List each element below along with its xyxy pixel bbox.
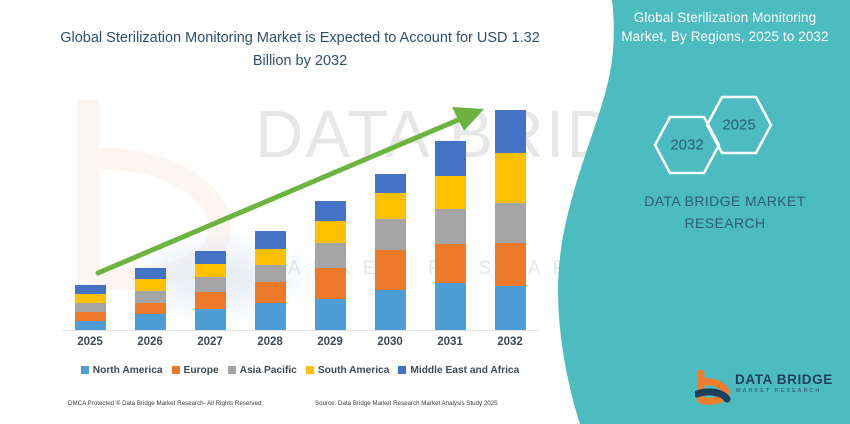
bar-2029[interactable] — [315, 201, 346, 331]
bar-segment — [195, 264, 226, 277]
bar-segment — [255, 265, 286, 282]
infographic-canvas: DATA BRIDGE MARKET RESEARCH Global Steri… — [0, 0, 850, 424]
bar-segment — [495, 286, 526, 331]
logo-tagline: MARKET RESEARCH — [736, 388, 821, 394]
legend-item-south-america[interactable]: South America — [306, 365, 390, 376]
bar-segment — [135, 303, 166, 314]
legend-label: Middle East and Africa — [410, 365, 519, 376]
bar-segment — [255, 249, 286, 265]
bar-segment — [255, 303, 286, 331]
x-axis-label-2025: 2025 — [64, 336, 116, 348]
bar-2032[interactable] — [495, 110, 526, 331]
hexagon-badge-2025: 2025 — [705, 95, 773, 155]
hexagon-year-badges: 2032 2025 — [645, 95, 845, 175]
x-axis-label-2027: 2027 — [184, 336, 236, 348]
bar-2031[interactable] — [435, 141, 466, 331]
bar-segment — [375, 219, 406, 250]
bar-segment — [375, 250, 406, 290]
data-bridge-logo: DATA BRIDGE MARKET RESEARCH — [695, 370, 845, 410]
panel-brand-line1: DATA BRIDGE MARKET — [610, 190, 840, 212]
legend-item-middle-east-and-africa[interactable]: Middle East and Africa — [398, 365, 519, 376]
bar-segment — [495, 203, 526, 243]
bar-2028[interactable] — [255, 231, 286, 331]
legend-label: Europe — [184, 365, 219, 376]
logo-name: DATA BRIDGE — [735, 372, 833, 387]
bar-segment — [315, 221, 346, 243]
bar-segment — [315, 268, 346, 299]
bar-segment — [495, 243, 526, 286]
bar-segment — [435, 141, 466, 176]
bar-segment — [375, 193, 406, 219]
chart-title: Global Sterilization Monitoring Market i… — [60, 27, 540, 73]
bar-2027[interactable] — [195, 251, 226, 331]
legend-swatch-icon — [306, 366, 314, 374]
bar-segment — [315, 201, 346, 221]
footer-source: Source: Data Bridge Market Research Mark… — [315, 400, 498, 407]
bar-segment — [375, 290, 406, 331]
bar-segment — [495, 153, 526, 203]
bar-segment — [75, 312, 106, 321]
bar-segment — [315, 299, 346, 331]
x-axis-label-2029: 2029 — [304, 336, 356, 348]
bar-segment — [435, 209, 466, 244]
bar-segment — [75, 303, 106, 312]
x-axis-label-2030: 2030 — [364, 336, 416, 348]
bar-segment — [255, 282, 286, 303]
bar-segment — [195, 309, 226, 331]
footer-copyright: DMCA Protected ® Data Bridge Market Rese… — [68, 400, 263, 407]
bar-segment — [435, 244, 466, 283]
bar-segment — [255, 231, 286, 249]
logo-mark-icon — [695, 370, 733, 406]
bar-segment — [495, 110, 526, 153]
panel-title: Global Sterilization Monitoring Market, … — [610, 8, 840, 46]
chart-baseline — [62, 330, 540, 331]
bar-segment — [195, 292, 226, 309]
legend-swatch-icon — [81, 366, 89, 374]
bar-segment — [375, 174, 406, 193]
x-axis-label-2031: 2031 — [424, 336, 476, 348]
x-axis-label-2026: 2026 — [124, 336, 176, 348]
bar-2025[interactable] — [75, 285, 106, 331]
bar-2026[interactable] — [135, 268, 166, 331]
bar-segment — [315, 243, 346, 268]
panel-brand: DATA BRIDGE MARKET RESEARCH — [610, 190, 840, 234]
legend-item-north-america[interactable]: North America — [81, 365, 163, 376]
x-axis-label-2032: 2032 — [484, 336, 536, 348]
legend-label: Asia Pacific — [240, 365, 297, 376]
bar-segment — [135, 268, 166, 279]
legend-swatch-icon — [398, 366, 406, 374]
chart-legend: North AmericaEuropeAsia PacificSouth Ame… — [60, 360, 540, 380]
bar-segment — [195, 277, 226, 292]
bar-2030[interactable] — [375, 174, 406, 331]
x-axis-labels: 20252026202720282029203020312032 — [60, 336, 540, 354]
footer: DMCA Protected ® Data Bridge Market Rese… — [60, 400, 550, 414]
bar-segment — [195, 251, 226, 264]
legend-label: South America — [318, 365, 390, 376]
legend-swatch-icon — [172, 366, 180, 374]
legend-swatch-icon — [228, 366, 236, 374]
legend-item-asia-pacific[interactable]: Asia Pacific — [228, 365, 297, 376]
bar-segment — [435, 283, 466, 331]
hexagon-label-2025: 2025 — [705, 117, 773, 134]
bar-segment — [75, 285, 106, 294]
bar-segment — [435, 176, 466, 209]
panel-brand-line2: RESEARCH — [610, 212, 840, 234]
legend-label: North America — [93, 365, 163, 376]
stacked-bar-chart — [60, 95, 540, 331]
x-axis-label-2028: 2028 — [244, 336, 296, 348]
bar-segment — [135, 291, 166, 303]
bar-segment — [75, 294, 106, 303]
bar-segment — [135, 279, 166, 291]
legend-item-europe[interactable]: Europe — [172, 365, 219, 376]
bar-segment — [135, 314, 166, 331]
